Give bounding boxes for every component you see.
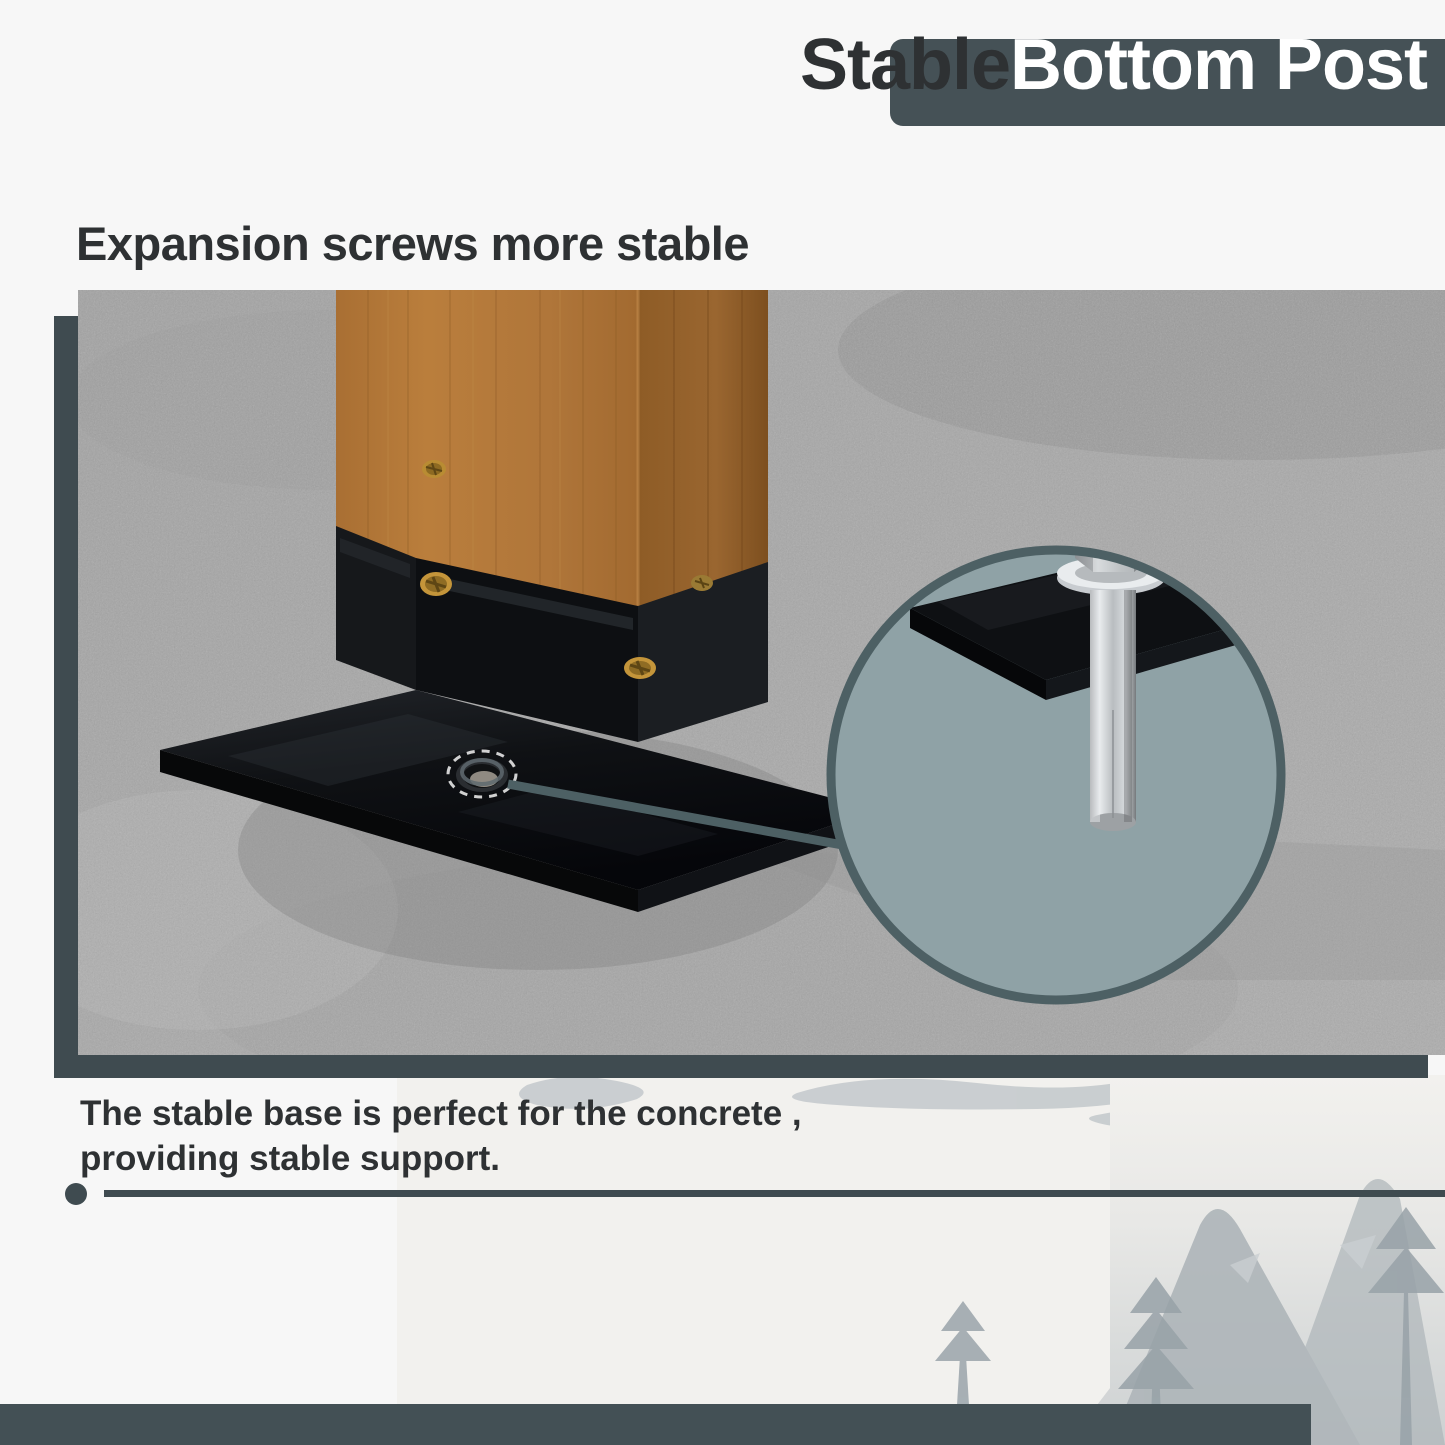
page-header: StableBottom Post xyxy=(0,0,1445,150)
product-photo-art xyxy=(78,290,1445,1055)
photo-frame-left-edge xyxy=(54,316,78,1078)
footer-bar xyxy=(0,1404,1311,1445)
infographic-page: StableBottom Post Expansion screws more … xyxy=(0,0,1445,1445)
page-title: StableBottom Post xyxy=(0,29,1445,101)
ink-wash-mountain-panel xyxy=(1110,1075,1445,1445)
photo-frame-bottom-edge xyxy=(54,1055,1428,1078)
divider-line xyxy=(104,1190,1445,1197)
photo-caption: The stable base is perfect for the concr… xyxy=(80,1092,980,1182)
product-photo xyxy=(78,290,1445,1055)
section-heading: Expansion screws more stable xyxy=(76,216,749,271)
page-title-highlight: Bottom Post xyxy=(1010,25,1427,105)
ink-wash-mountain-art xyxy=(1110,1075,1445,1445)
caption-line-1: The stable base is perfect for the concr… xyxy=(80,1092,980,1137)
page-title-plain: Stable xyxy=(800,25,1010,105)
divider-dot xyxy=(65,1183,87,1205)
caption-line-2: providing stable support. xyxy=(80,1137,980,1182)
